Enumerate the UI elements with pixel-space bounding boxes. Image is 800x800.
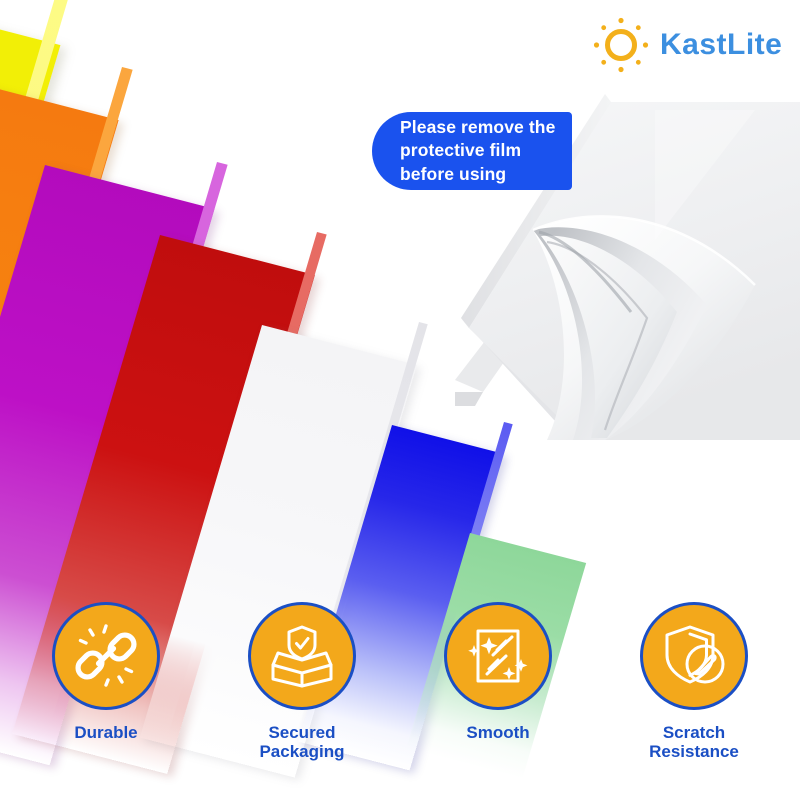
chain-link-icon (52, 602, 160, 710)
protective-film-callout: Please remove the protective film before… (372, 112, 572, 190)
feature-label: Smooth (466, 723, 529, 743)
shield-box-icon (248, 602, 356, 710)
feature-durable: Durable (36, 602, 176, 762)
feature-secured-packaging: Secured Packaging (232, 602, 372, 762)
shield-blade-icon (640, 602, 748, 710)
sun-icon (592, 16, 650, 74)
sparkle-panel-icon (444, 602, 552, 710)
feature-label: Scratch Resistance (649, 723, 739, 762)
feature-scratch-resistance: Scratch Resistance (624, 602, 764, 762)
brand-name: KastLite (660, 30, 782, 60)
feature-label: Durable (74, 723, 137, 743)
feature-label: Secured Packaging (259, 723, 344, 762)
callout-text: Please remove the protective film before… (400, 116, 555, 186)
product-image-canvas: KastLite Please remove the protective fi… (0, 0, 800, 800)
brand-logo: KastLite (592, 16, 782, 74)
feature-list: Durable Secured Packaging (0, 602, 800, 762)
feature-smooth: Smooth (428, 602, 568, 762)
